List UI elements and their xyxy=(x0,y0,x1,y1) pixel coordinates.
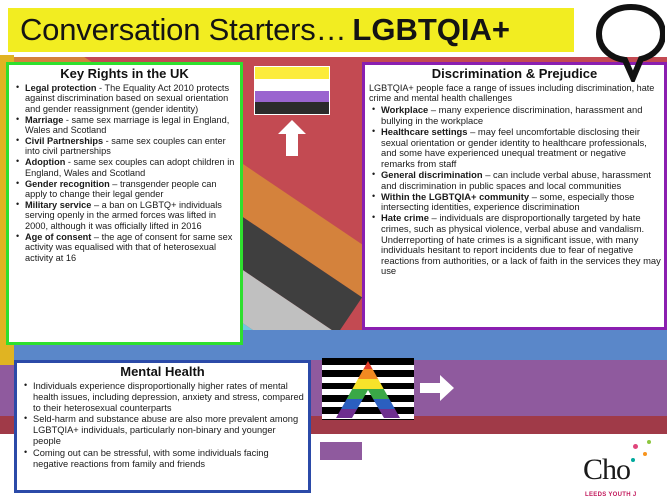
list-item-text: Individuals experience disproportionally… xyxy=(33,381,304,413)
logo-dot-icon xyxy=(647,440,651,444)
list-item-term: Hate crime xyxy=(381,212,429,223)
list-item-term: General discrimination xyxy=(381,169,483,180)
list-item: General discrimination – can include ver… xyxy=(381,170,662,191)
logo-dot-icon xyxy=(643,452,647,456)
list-item-term: Legal protection xyxy=(25,83,96,93)
straight-ally-flag-image xyxy=(322,358,414,420)
mental-health-list: Individuals experience disproportionally… xyxy=(17,381,308,469)
card-key-rights: Key Rights in the UK Legal protection - … xyxy=(6,62,243,345)
list-item-term: Marriage xyxy=(25,115,63,125)
arrow-up-icon xyxy=(277,120,307,156)
non-binary-flag-image xyxy=(254,66,330,115)
organisation-logo: Cho LEEDS YOUTH J xyxy=(571,438,665,500)
list-item: Age of consent – the age of consent for … xyxy=(25,232,238,263)
list-item: Hate crime – individuals are disproporti… xyxy=(381,213,662,277)
list-item-term: Age of consent xyxy=(25,232,91,242)
list-item: Healthcare settings – may feel uncomfort… xyxy=(381,127,662,169)
discrimination-list: Workplace – many experience discriminati… xyxy=(365,105,664,277)
card-mental-health: Mental Health Individuals experience dis… xyxy=(14,360,311,493)
list-item-term: Gender recognition xyxy=(25,179,110,189)
list-item: Seld-harm and substance abuse are also m… xyxy=(33,414,306,446)
logo-subtitle: LEEDS YOUTH J xyxy=(585,492,636,498)
page-title: Conversation Starters… LGBTQIA+ xyxy=(8,8,574,52)
list-item-text: Coming out can be stressful, with some i… xyxy=(33,448,269,469)
discrimination-lead: LGBTQIA+ people face a range of issues i… xyxy=(369,83,661,103)
speech-bubble-icon xyxy=(593,4,665,82)
list-item-term: Adoption xyxy=(25,157,65,167)
mental-health-heading: Mental Health xyxy=(17,364,308,379)
list-item: Individuals experience disproportionally… xyxy=(33,381,306,413)
list-item: Workplace – many experience discriminati… xyxy=(381,105,662,126)
list-item: Adoption - same sex couples can adopt ch… xyxy=(25,157,238,178)
list-item-term: Within the LGBTQIA+ community xyxy=(381,191,529,202)
key-rights-heading: Key Rights in the UK xyxy=(9,66,240,81)
list-item-term: Civil Partnerships xyxy=(25,136,103,146)
card-discrimination-prejudice: Discrimination & Prejudice LGBTQIA+ peop… xyxy=(362,62,667,330)
list-item: Legal protection - The Equality Act 2010… xyxy=(25,83,238,114)
list-item-term: Military service xyxy=(25,200,91,210)
list-item: Civil Partnerships - same sex couples ca… xyxy=(25,136,238,157)
list-item-text: Seld-harm and substance abuse are also m… xyxy=(33,414,298,446)
logo-dot-icon xyxy=(631,458,635,462)
list-item: Within the LGBTQIA+ community – some, es… xyxy=(381,192,662,213)
key-rights-list: Legal protection - The Equality Act 2010… xyxy=(9,83,240,263)
list-item: Coming out can be stressful, with some i… xyxy=(33,448,306,470)
logo-dot-icon xyxy=(633,444,638,449)
list-item: Marriage - same sex marriage is legal in… xyxy=(25,115,238,136)
list-item: Military service – a ban on LGBTQ+ indiv… xyxy=(25,200,238,231)
decorative-purple-block xyxy=(320,442,362,460)
list-item-term: Healthcare settings xyxy=(381,126,468,137)
poster-canvas: Conversation Starters… LGBTQIA+ Key Righ… xyxy=(0,0,667,500)
arrow-right-icon xyxy=(420,375,454,401)
logo-name: Cho xyxy=(583,453,630,487)
list-item-term: Workplace xyxy=(381,104,428,115)
page-title-highlight: LGBTQIA+ xyxy=(352,12,510,48)
list-item: Gender recognition – transgender people … xyxy=(25,179,238,200)
page-title-main: Conversation Starters… xyxy=(20,12,346,48)
